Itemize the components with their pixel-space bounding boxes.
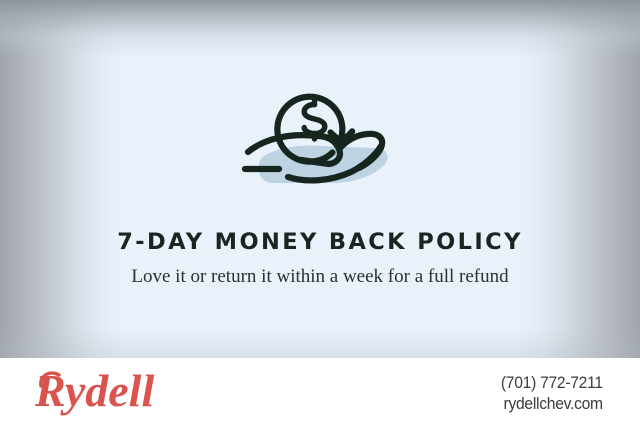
page-title: 7-DAY MONEY BACK POLICY <box>0 229 640 255</box>
subheadline-text: Love it or return it within a week for a… <box>120 264 520 289</box>
rydell-logo[interactable]: Rydell <box>33 366 193 418</box>
phone-number[interactable]: (701) 772-7211 <box>501 372 603 393</box>
hand-holding-money-refund-icon <box>235 76 405 196</box>
panel-edge-gradient-top <box>0 0 640 58</box>
footer-bar: Rydell (701) 772-7211 rydellchev.com <box>0 358 640 427</box>
contact-info: (701) 772-7211 rydellchev.com <box>492 372 603 414</box>
hero-icon-container <box>0 76 640 196</box>
hero-panel: 7-DAY MONEY BACK POLICY Love it or retur… <box>0 0 640 358</box>
website-url[interactable]: rydellchev.com <box>501 393 603 414</box>
money-back-policy-ad: 7-DAY MONEY BACK POLICY Love it or retur… <box>0 0 640 427</box>
panel-edge-gradient-bottom <box>0 328 640 358</box>
rydell-wordmark-icon: Rydell <box>33 366 193 418</box>
